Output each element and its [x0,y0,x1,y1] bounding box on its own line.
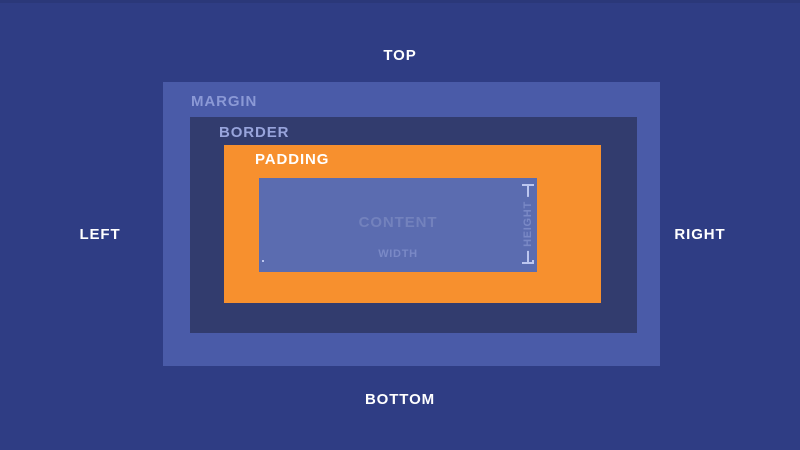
border-box: BORDER PADDING CONTENT WIDTH [190,117,637,333]
height-measurement: HEIGHT [522,184,534,264]
height-label: HEIGHT [522,197,534,251]
width-label-wrap: WIDTH [262,248,534,260]
height-cap-top-icon [522,184,534,186]
content-box-label: CONTENT [259,214,537,231]
border-box-label: BORDER [219,124,289,141]
direction-label-top: TOP [0,47,800,64]
width-measurement: WIDTH [262,250,534,262]
padding-box: PADDING CONTENT WIDTH [224,145,601,303]
box-model-diagram: TOP BOTTOM LEFT RIGHT MARGIN BORDER PADD… [0,0,800,450]
height-cap-bottom-icon [522,262,534,264]
padding-box-label: PADDING [255,151,329,168]
width-label: WIDTH [373,248,423,260]
direction-label-bottom: BOTTOM [0,391,800,408]
margin-box-label: MARGIN [191,93,257,110]
top-edge-band [0,0,800,3]
margin-box: MARGIN BORDER PADDING CONTENT WIDTH [163,82,660,366]
content-box: CONTENT WIDTH [259,178,537,272]
